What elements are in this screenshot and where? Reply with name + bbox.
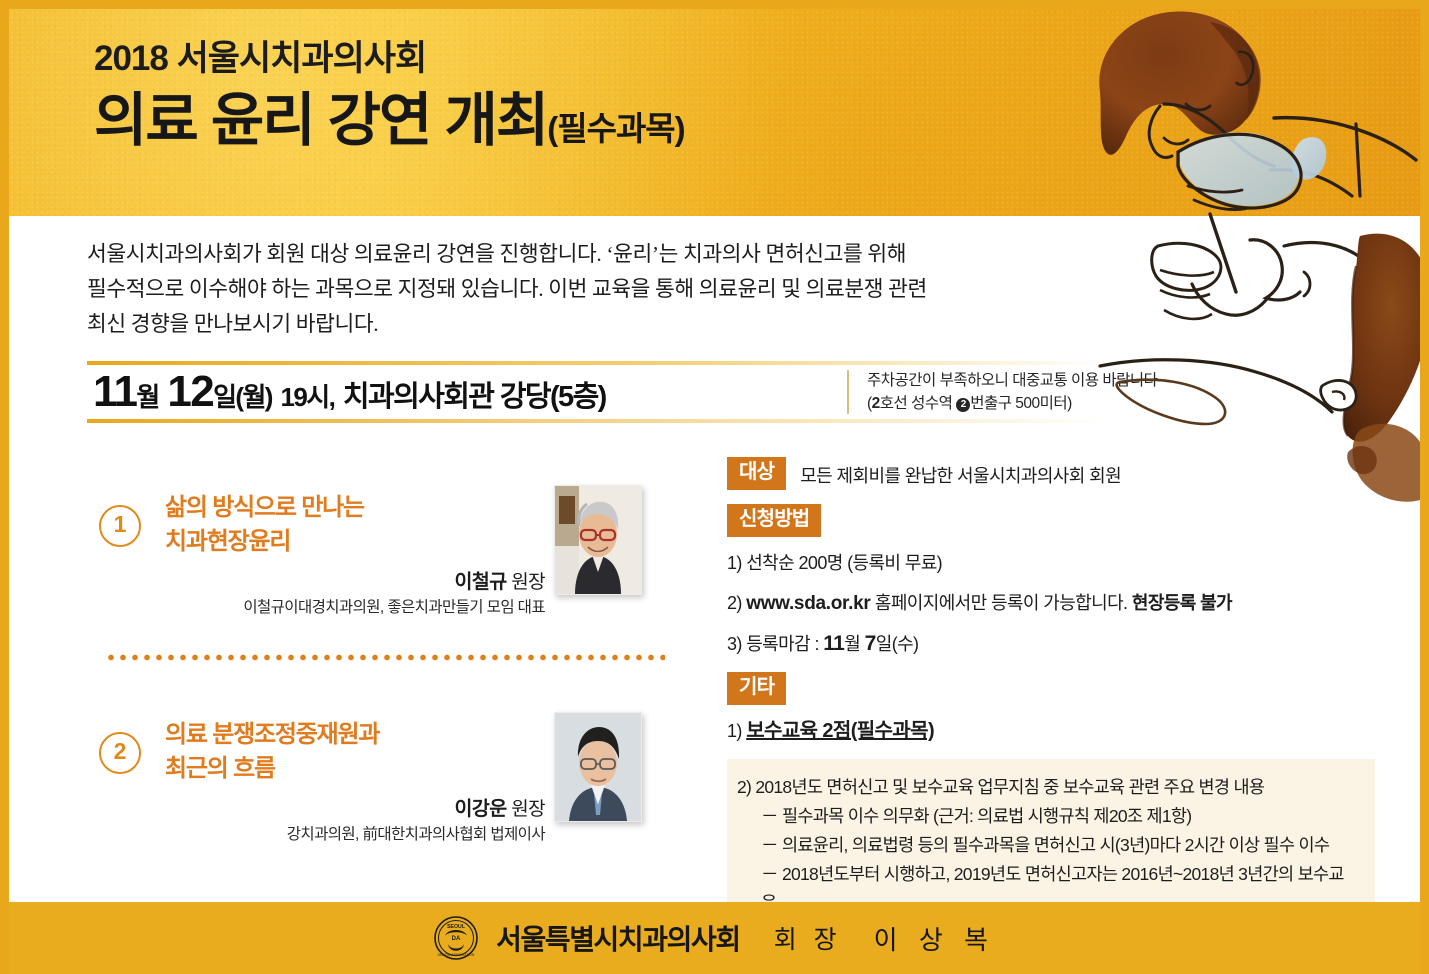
session-title-1-line-2: 치과현장윤리 [165, 525, 585, 559]
date-month-unit: 월 [136, 382, 158, 412]
intro-line-1: 서울시치과의사회가 회원 대상 의료윤리 강연을 진행합니다. ‘윤리’는 치과… [87, 237, 1097, 272]
session-title-1: 삶의 방식으로 만나는 치과현장윤리 [165, 491, 585, 559]
session-number-1: 1 [99, 505, 141, 547]
footer-band: SEOUL DA DENTAL ASSOCIATION 서울특별시치과의사회 회… [0, 902, 1429, 974]
session-divider-dotted [105, 654, 665, 661]
speaker-role-1: 원장 [511, 572, 545, 593]
header-text-group: 2018 서울시치과의사회 의료 윤리 강연 개최(필수과목) [94, 41, 685, 150]
apply-item-2-num: 2) [727, 593, 742, 613]
session-title-2: 의료 분쟁조정중재원과 최근의 흐름 [165, 718, 585, 786]
session-title-2-line-2: 최근의 흐름 [165, 752, 585, 786]
page-title: 의료 윤리 강연 개최(필수과목) [94, 92, 685, 150]
session-item-1: 1 삶의 방식으로 만나는 치과현장윤리 이철규 원장 이철규이대경치과의원, … [87, 479, 687, 644]
speaker-affiliation-1: 이철규이대경치과의원, 좋은치과만들기 모임 대표 [105, 595, 545, 617]
session-item-2: 2 의료 분쟁조정중재원과 최근의 흐름 이강운 원장 강치과의원, 前대한치과… [87, 706, 687, 871]
notebox-heading: 2) 2018년도 면허신고 및 보수교육 업무지침 중 보수교육 관련 주요 … [737, 773, 1359, 802]
target-text: 모든 제회비를 완납한 서울시치과의사회 회원 [800, 457, 1121, 488]
intro-paragraph: 서울시치과의사회가 회원 대상 의료윤리 강연을 진행합니다. ‘윤리’는 치과… [87, 237, 1097, 342]
deadline-month-unit: 월 [844, 634, 864, 654]
etc-item-1-num: 1) [727, 721, 742, 741]
apply-item-2: 2) www.sda.or.kr 홈페이지에서만 등록이 가능합니다. 현장등록… [727, 589, 1367, 618]
etc-badge: 기타 [727, 672, 786, 705]
exit-number-icon: 2 [956, 398, 970, 412]
association-seal-icon: SEOUL DA DENTAL ASSOCIATION [434, 916, 478, 960]
etc-item-1: 1) 보수교육 2점(필수과목) [727, 717, 1367, 745]
info-panel: 대상 모든 제회비를 완납한 서울시치과의사회 회원 신청방법 1) 선착순 2… [727, 457, 1367, 974]
footer-organization: 서울특별시치과의사회 [496, 918, 740, 958]
apply-item-1-num: 1) [727, 553, 742, 573]
credit-points-text: 보수교육 2점(필수과목) [746, 720, 934, 742]
headline-suffix: (필수과목) [547, 110, 684, 147]
registration-url[interactable]: www.sda.or.kr [746, 593, 870, 614]
date-venue-bar: 11월 12일(월) 19시, 치과의사회관 강당(5층) 주차공간이 부족하오… [87, 361, 1109, 423]
date-venue-text: 11월 12일(월) 19시, 치과의사회관 강당(5층) [93, 369, 606, 420]
onsite-registration-warning: 현장등록 불가 [1132, 593, 1232, 613]
speaker-name-2-text: 이강운 [455, 798, 507, 820]
intro-line-3: 최신 경향을 만나보시기 바랍니다. [87, 307, 1097, 342]
session-number-2: 2 [99, 732, 141, 774]
header-kicker: 2018 서울시치과의사회 [94, 41, 685, 76]
speaker-affiliation-2: 강치과의원, 前대한치과의사협회 법제이사 [105, 822, 545, 844]
target-row: 대상 모든 제회비를 완납한 서울시치과의사회 회원 [727, 457, 1367, 490]
session-list: 1 삶의 방식으로 만나는 치과현장윤리 이철규 원장 이철규이대경치과의원, … [87, 479, 687, 871]
svg-text:SEOUL: SEOUL [447, 924, 466, 930]
speaker-name-2: 이강운 원장 [165, 792, 545, 821]
intro-line-2: 필수적으로 이수해야 하는 과목으로 지정돼 있습니다. 이번 교육을 통해 의… [87, 272, 1097, 307]
apply-item-3: 3) 등록마감 : 11월 7일(수) [727, 630, 1367, 658]
apply-item-2-mid: 홈페이지에서만 등록이 가능합니다. [870, 593, 1131, 613]
speaker-photo-2 [554, 712, 642, 822]
deadline-day-unit: 일(수) [876, 634, 919, 654]
footer-role: 회 장 [774, 920, 842, 956]
deadline-label: 등록마감 : [746, 634, 823, 654]
speaker-name-1-text: 이철규 [455, 571, 507, 593]
date-day: 12 [167, 367, 213, 416]
svg-text:DENTAL ASSOCIATION: DENTAL ASSOCIATION [438, 953, 475, 957]
apply-item-3-num: 3) [727, 634, 742, 654]
transport-note-line-2: (2호선 성수역 2번출구 500미터) [867, 392, 1197, 415]
venue-name: 치과의사회관 강당(5층) [343, 381, 606, 413]
subway-station: 호선 성수역 [880, 395, 956, 412]
date-rule-top [87, 361, 1109, 365]
transport-note-line-1: 주차공간이 부족하오니 대중교통 이용 바랍니다 [867, 369, 1197, 392]
poster-root: 2018 서울시치과의사회 의료 윤리 강연 개최(필수과목) [0, 0, 1429, 974]
apply-item-1: 1) 선착순 200명 (등록비 무료) [727, 549, 1367, 577]
notebox-bullet-1: － 필수과목 이수 의무화 (근거: 의료법 시행규칙 제20조 제1항) [737, 802, 1359, 831]
svg-text:DA: DA [452, 936, 461, 942]
headline-main: 의료 윤리 강연 개최 [94, 88, 547, 153]
speaker-name-1: 이철규 원장 [165, 565, 545, 594]
venue-transport-note: 주차공간이 부족하오니 대중교통 이용 바랍니다 (2호선 성수역 2번출구 5… [867, 369, 1197, 415]
apply-badge: 신청방법 [727, 504, 821, 537]
apply-item-1-text: 선착순 200명 (등록비 무료) [746, 553, 942, 573]
notebox-bullet-2: － 의료윤리, 의료법령 등의 필수과목을 면허신고 시(3년)마다 2시간 이… [737, 831, 1359, 860]
deadline-day: 7 [865, 632, 876, 655]
date-day-unit: 일(월) [213, 382, 272, 412]
exit-distance: 번출구 500미터) [970, 395, 1072, 412]
target-badge: 대상 [727, 457, 786, 490]
session-title-1-line-1: 삶의 방식으로 만나는 [165, 491, 585, 525]
speaker-role-2: 원장 [511, 799, 545, 820]
session-title-2-line-1: 의료 분쟁조정중재원과 [165, 718, 585, 752]
speaker-photo-1 [554, 485, 642, 595]
subway-line-number: 2 [872, 395, 880, 412]
apply-section: 신청방법 1) 선착순 200명 (등록비 무료) 2) www.sda.or.… [727, 504, 1367, 658]
date-month: 11 [93, 367, 136, 416]
date-note-separator [847, 370, 849, 414]
deadline-month: 11 [823, 632, 844, 655]
date-time: 19시, [281, 382, 335, 412]
footer-president-name: 이 상 복 [874, 920, 995, 957]
